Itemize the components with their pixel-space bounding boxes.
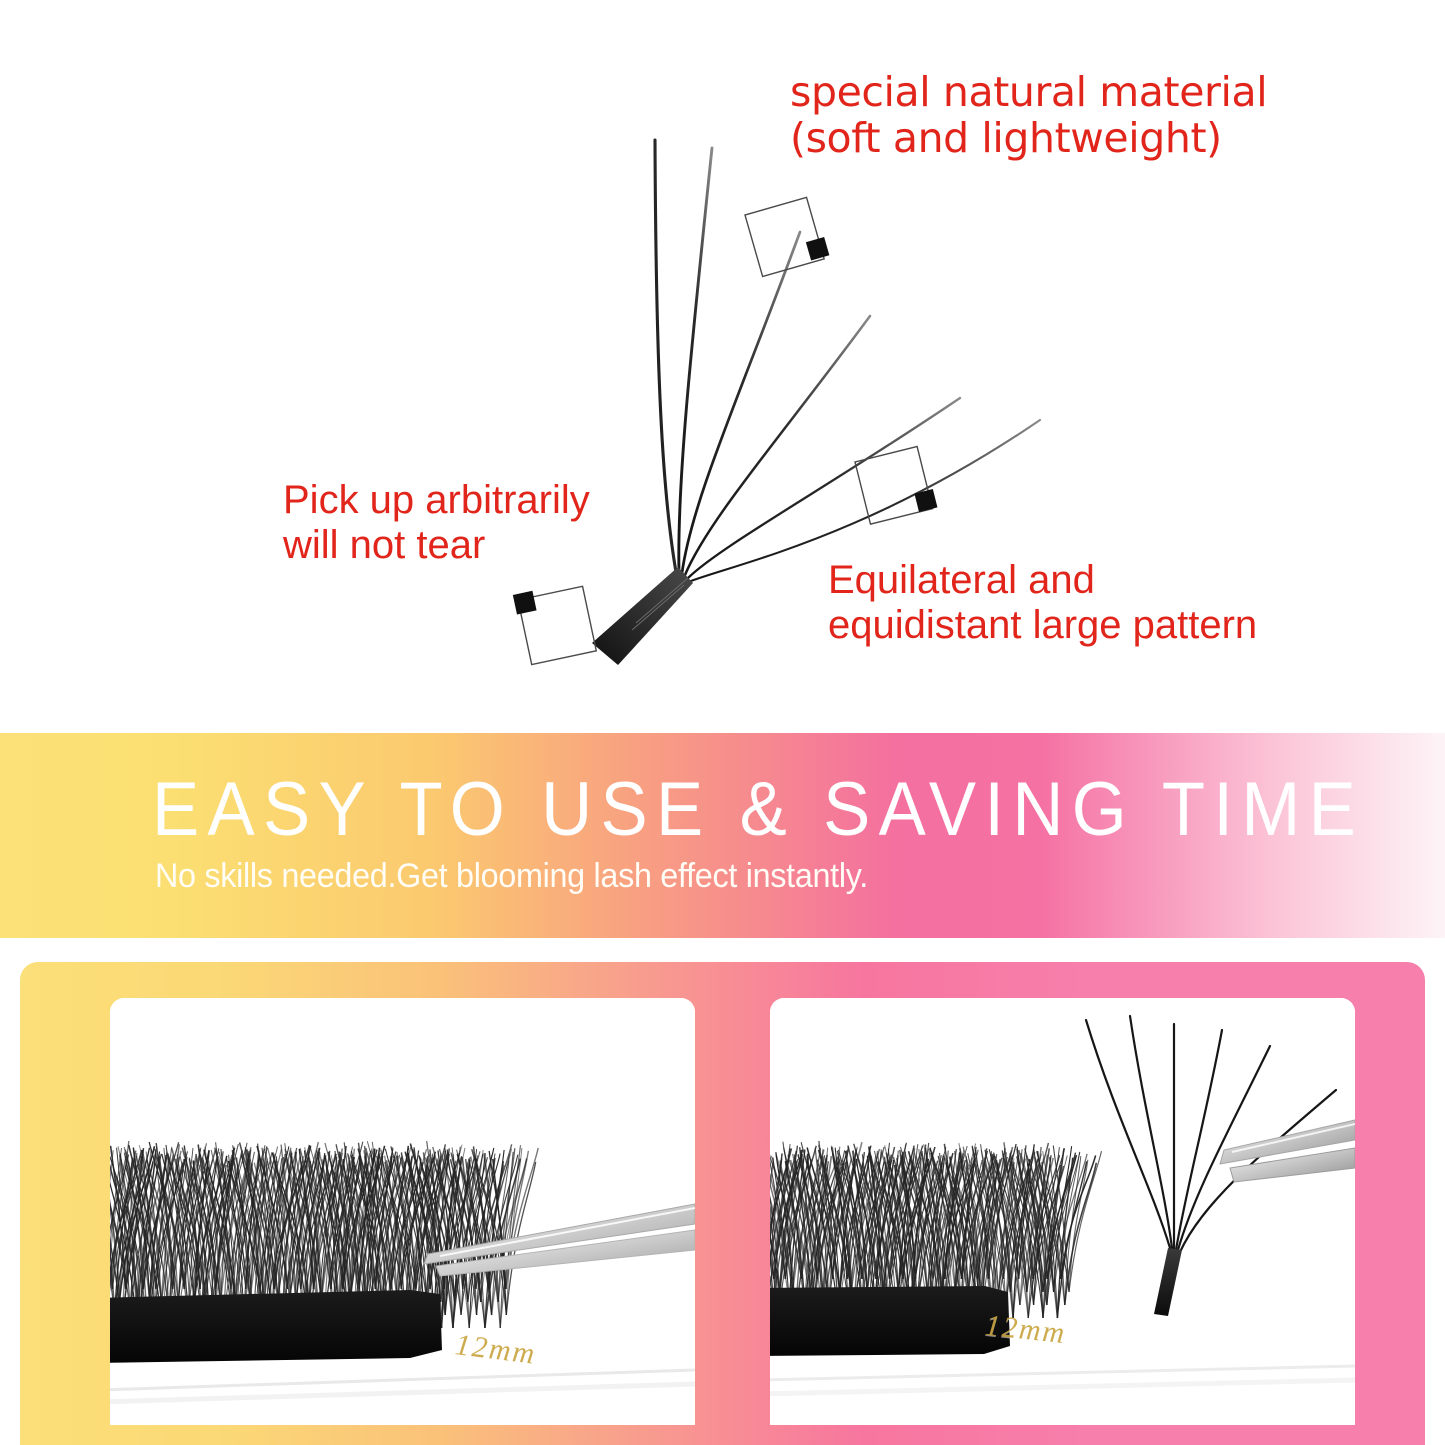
- marker-base: [513, 580, 596, 665]
- product-photo-panel: 12mm: [20, 962, 1425, 1445]
- marker-right: [855, 445, 937, 524]
- banner-subtitle: No skills needed.Get blooming lash effec…: [155, 856, 868, 897]
- product-marketing-image: special natural material (soft and light…: [0, 0, 1445, 1445]
- lash-fan-base: [592, 567, 693, 665]
- single-fan-pickup-graphic: [770, 998, 1355, 1425]
- lash-fan-illustration: [440, 120, 1140, 700]
- photo-single-fan-pickup[interactable]: 12mm: [770, 998, 1355, 1425]
- photo-lash-tray-with-tweezers[interactable]: 12mm: [110, 998, 695, 1425]
- banner-title: EASY TO USE & SAVING TIME: [152, 772, 1364, 848]
- lash-fibers: [655, 140, 1040, 581]
- lash-tray-photo-graphic: [110, 998, 695, 1425]
- lash-fan-feature-diagram: special natural material (soft and light…: [0, 0, 1445, 733]
